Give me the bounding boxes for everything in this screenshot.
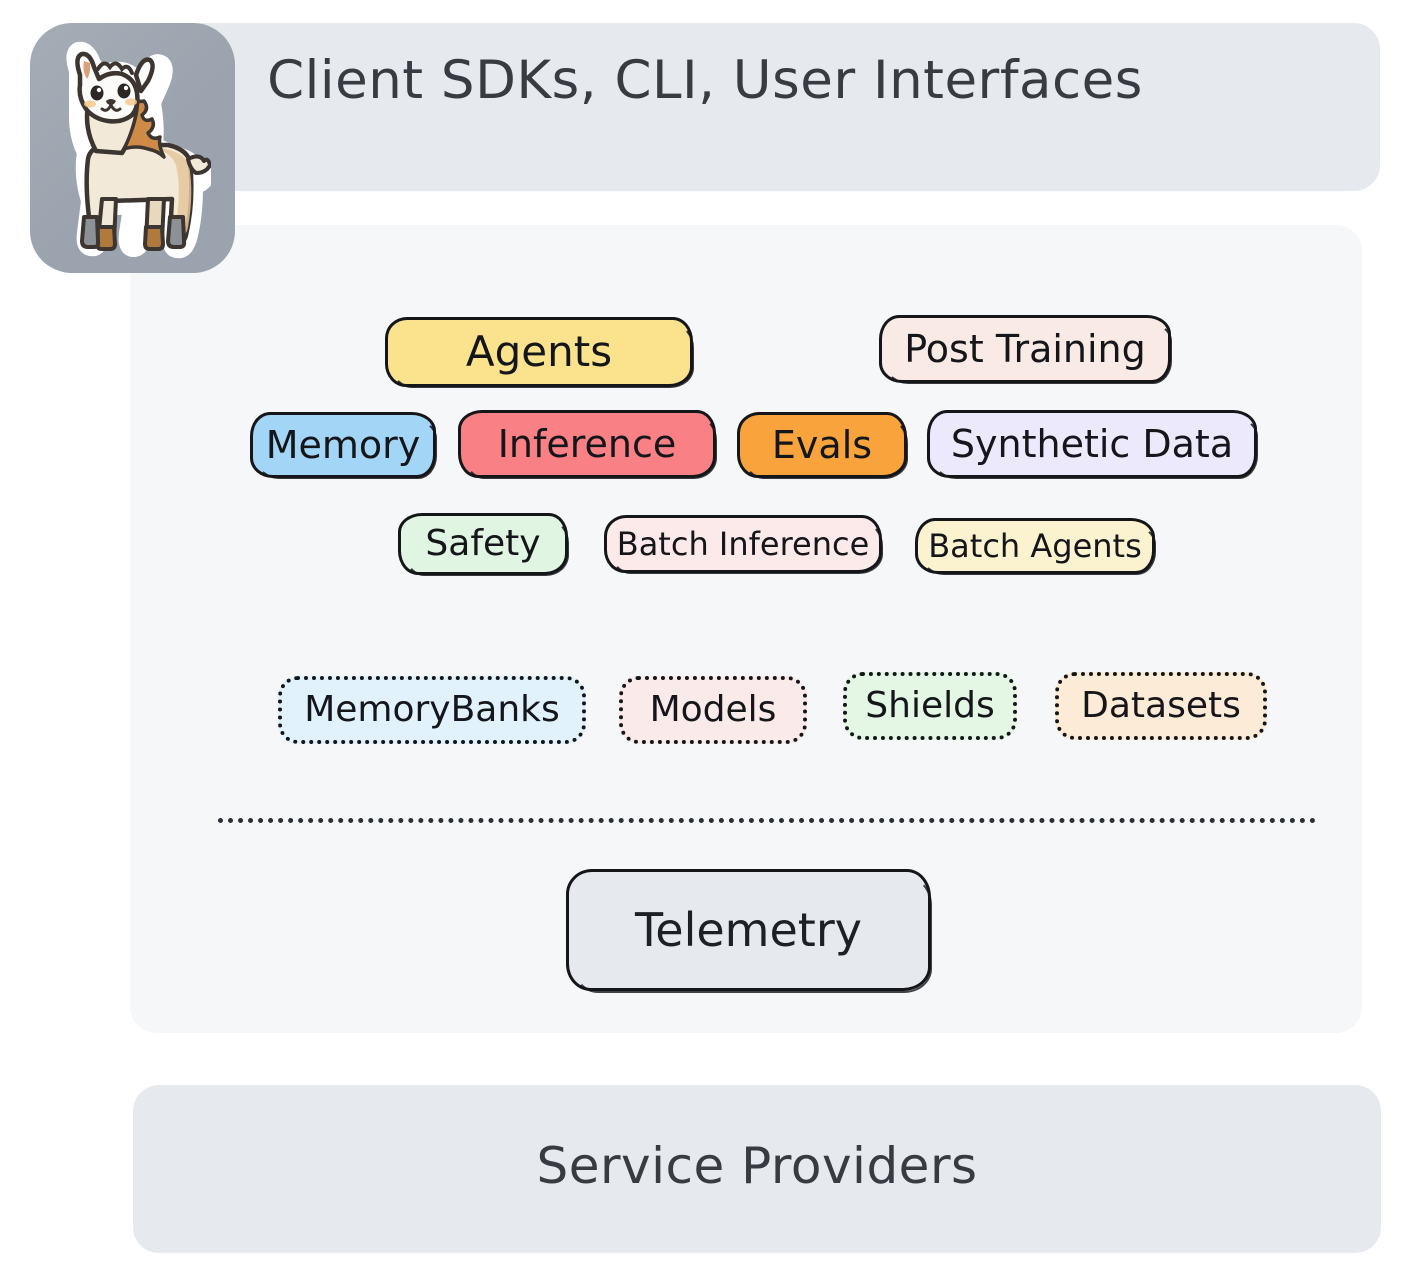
resource-box-label: Shields [865,688,994,724]
resource-box-label: Datasets [1081,688,1241,724]
api-box-label: Post Training [904,330,1146,368]
api-box-label: Batch Inference [617,528,870,560]
llama-icon [36,41,211,261]
api-box-safety[interactable]: Safety [398,513,568,575]
resource-box-datasets[interactable]: Datasets [1055,672,1267,740]
resource-box-models[interactable]: Models [619,676,807,744]
api-box-label: Batch Agents [928,530,1142,562]
api-box-label: Evals [772,426,872,464]
api-box-post-training[interactable]: Post Training [879,315,1171,383]
api-box-inference[interactable]: Inference [458,410,716,478]
api-box-label: Safety [425,526,540,562]
telemetry-box[interactable]: Telemetry [566,869,931,991]
resource-box-memorybanks[interactable]: MemoryBanks [278,676,586,744]
logo-badge [30,23,235,273]
header-title: Client SDKs, CLI, User Interfaces [160,50,1250,111]
api-box-label: Synthetic Data [951,425,1233,463]
api-box-label: Inference [498,425,677,463]
resource-box-shields[interactable]: Shields [843,672,1017,740]
api-box-synthetic-data[interactable]: Synthetic Data [927,410,1257,478]
footer-title: Service Providers [133,1137,1381,1195]
api-box-evals[interactable]: Evals [737,412,907,478]
resource-box-label: Models [650,692,777,728]
api-box-label: Memory [266,426,421,464]
resource-box-label: MemoryBanks [304,692,560,728]
api-box-batch-agents[interactable]: Batch Agents [915,518,1155,574]
api-box-batch-inference[interactable]: Batch Inference [604,515,882,573]
api-box-agents[interactable]: Agents [385,317,693,387]
section-divider [218,818,1316,823]
api-box-label: Agents [466,331,612,373]
api-box-memory[interactable]: Memory [250,412,436,478]
telemetry-label: Telemetry [635,903,862,957]
